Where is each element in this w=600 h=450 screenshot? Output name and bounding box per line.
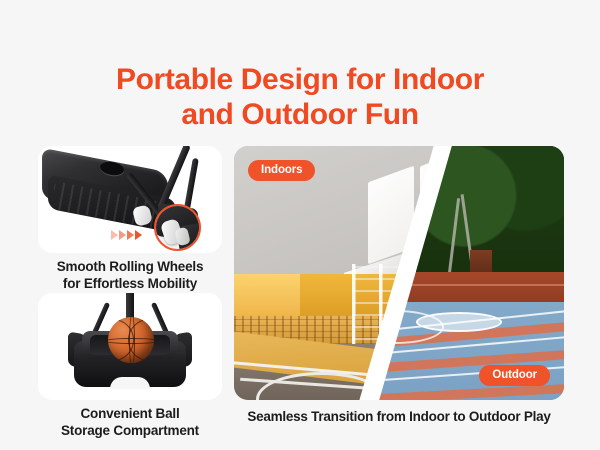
feature-caption-line-1: Convenient Ball bbox=[80, 406, 179, 421]
feature-caption-line-2: for Effortless Mobility bbox=[63, 276, 197, 291]
feature-caption: Convenient Ball Storage Compartment bbox=[38, 405, 222, 440]
feature-image-card bbox=[38, 293, 222, 400]
chevron-right-icon bbox=[111, 230, 118, 240]
chevron-arrows-icon bbox=[111, 230, 142, 240]
status-badge-indoors: Indoors bbox=[248, 160, 315, 181]
basketball-seam-right bbox=[128, 319, 154, 361]
base-with-wheels-illustration bbox=[38, 146, 222, 253]
feature-list: Smooth Rolling Wheels for Effortless Mob… bbox=[38, 146, 222, 438]
chevron-right-icon bbox=[127, 230, 134, 240]
base-notch-cutout bbox=[110, 377, 150, 389]
promo-banner: Portable Design for Indoor and Outdoor F… bbox=[0, 0, 600, 450]
split-scene-image: Indoors Outdoor bbox=[234, 146, 564, 400]
feature-caption: Smooth Rolling Wheels for Effortless Mob… bbox=[38, 258, 222, 293]
basketball-icon bbox=[108, 317, 154, 363]
status-badge-outdoor: Outdoor bbox=[479, 365, 550, 386]
feature-caption-line-1: Smooth Rolling Wheels bbox=[57, 259, 204, 274]
ball-storage-illustration bbox=[38, 293, 222, 400]
feature-image-card bbox=[38, 146, 222, 253]
feature-item-rolling-wheels: Smooth Rolling Wheels for Effortless Mob… bbox=[38, 146, 222, 293]
basketball-seam-left bbox=[108, 319, 134, 361]
headline-line-1: Portable Design for Indoor bbox=[116, 63, 484, 96]
zoom-circle-icon bbox=[154, 204, 201, 251]
chevron-right-icon bbox=[119, 230, 126, 240]
indoor-outdoor-comparison: Indoors Outdoor Seamless Transition from… bbox=[234, 146, 564, 424]
feature-item-ball-storage: Convenient Ball Storage Compartment bbox=[38, 293, 222, 440]
feature-caption-line-2: Storage Compartment bbox=[61, 423, 199, 438]
page-title: Portable Design for Indoor and Outdoor F… bbox=[0, 62, 600, 133]
court-center-circle bbox=[416, 312, 502, 332]
chevron-right-icon bbox=[135, 230, 142, 240]
comparison-caption: Seamless Transition from Indoor to Outdo… bbox=[234, 409, 564, 424]
headline-line-2: and Outdoor Fun bbox=[0, 97, 600, 132]
